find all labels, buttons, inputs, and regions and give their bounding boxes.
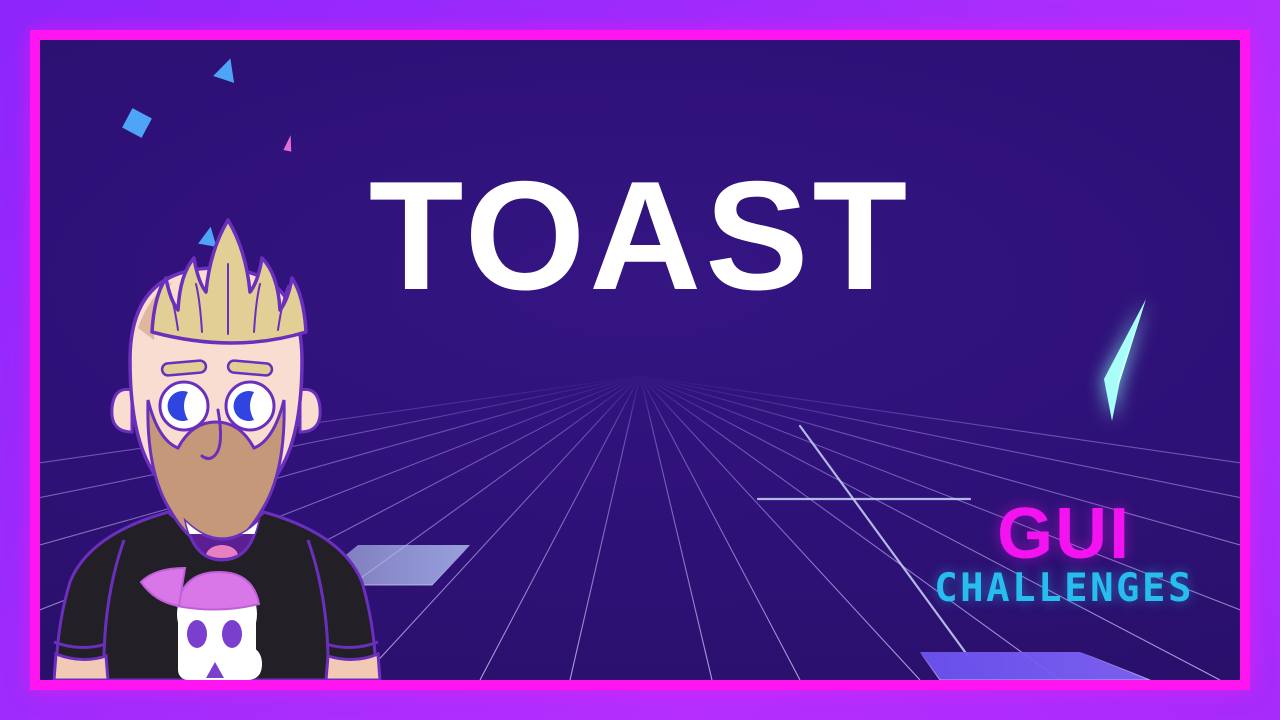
video-thumbnail: TOAST GUI CHALLENGES xyxy=(0,0,1280,720)
neon-frame-border xyxy=(30,30,1250,690)
